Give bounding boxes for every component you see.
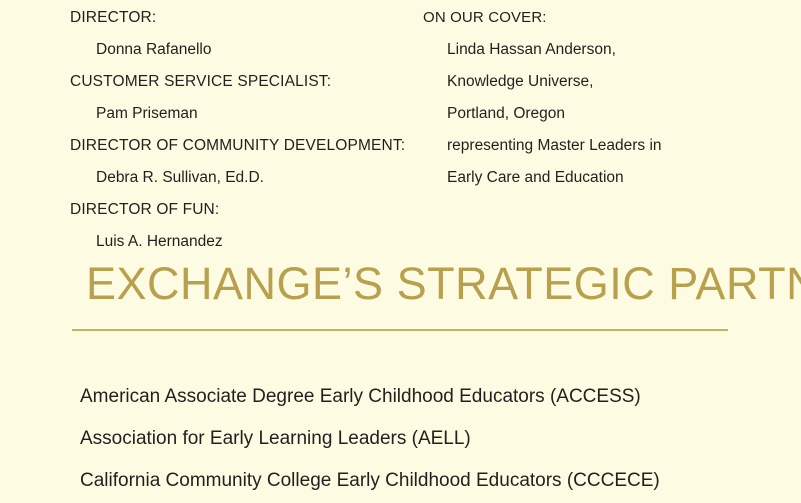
cover-credit-line: Linda Hassan Anderson, (423, 34, 753, 66)
list-item: Association for Early Learning Leaders (… (80, 418, 780, 460)
list-item: California Community College Early Child… (80, 460, 780, 502)
section-heading: EXCHANGE’S STRATEGIC PARTNERS (86, 259, 801, 309)
staff-name: Luis A. Hernandez (70, 226, 415, 258)
staff-credits-column: DIRECTOR: Donna Rafanello CUSTOMER SERVI… (70, 2, 415, 258)
cover-credit-line: Portland, Oregon (423, 98, 753, 130)
staff-name: Pam Priseman (70, 98, 415, 130)
cover-credit-line: representing Master Leaders in (423, 130, 753, 162)
page-root: DIRECTOR: Donna Rafanello CUSTOMER SERVI… (0, 0, 801, 503)
masthead-credits: DIRECTOR: Donna Rafanello CUSTOMER SERVI… (0, 0, 801, 255)
cover-credit-column: ON OUR COVER: Linda Hassan Anderson, Kno… (423, 2, 753, 194)
staff-name: Debra R. Sullivan, Ed.D. (70, 162, 415, 194)
cover-credit-line: Knowledge Universe, (423, 66, 753, 98)
staff-role: DIRECTOR OF FUN: (70, 194, 415, 226)
cover-credit-line: Early Care and Education (423, 162, 753, 194)
list-item: American Associate Degree Early Childhoo… (80, 376, 780, 418)
staff-role: CUSTOMER SERVICE SPECIALIST: (70, 66, 415, 98)
cover-credit-label: ON OUR COVER: (423, 2, 753, 34)
staff-name: Donna Rafanello (70, 34, 415, 66)
staff-role: DIRECTOR: (70, 2, 415, 34)
strategic-partners-list: American Associate Degree Early Childhoo… (80, 376, 780, 502)
staff-role: DIRECTOR OF COMMUNITY DEVELOPMENT: (70, 130, 415, 162)
section-divider-rule (72, 329, 728, 331)
